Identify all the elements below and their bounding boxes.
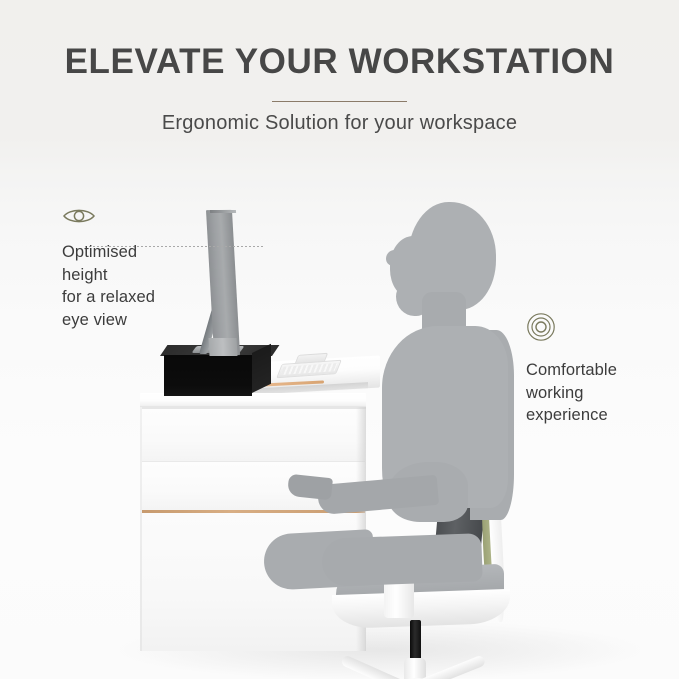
annotation-comfortable-working: Comfortable working experience <box>526 312 666 427</box>
annotation-optimised-height: Optimised height for a relaxed eye view <box>62 206 212 331</box>
title-divider <box>272 101 407 102</box>
person-thigh <box>321 533 483 587</box>
chair-leg <box>340 654 412 679</box>
promo-banner: ELEVATE YOUR WORKSTATION Ergonomic Solut… <box>0 0 679 679</box>
eye-icon <box>62 206 212 231</box>
monitor-panel-chin <box>208 338 237 356</box>
concentric-circles-icon <box>526 312 666 347</box>
chair-cylinder-collar <box>404 658 426 679</box>
page-title: ELEVATE YOUR WORKSTATION <box>0 44 679 81</box>
riser-side-face <box>252 344 271 393</box>
riser-front-face <box>164 355 252 396</box>
monitor-panel-top <box>210 210 236 213</box>
desk-left-edge <box>140 407 142 651</box>
annotation-left-text: Optimised height for a relaxed eye view <box>62 241 212 331</box>
page-subtitle: Ergonomic Solution for your workspace <box>0 112 679 135</box>
person-nose <box>386 250 402 266</box>
annotation-right-text: Comfortable working experience <box>526 359 666 427</box>
person-silhouette <box>330 180 550 600</box>
header: ELEVATE YOUR WORKSTATION Ergonomic Solut… <box>0 0 679 150</box>
